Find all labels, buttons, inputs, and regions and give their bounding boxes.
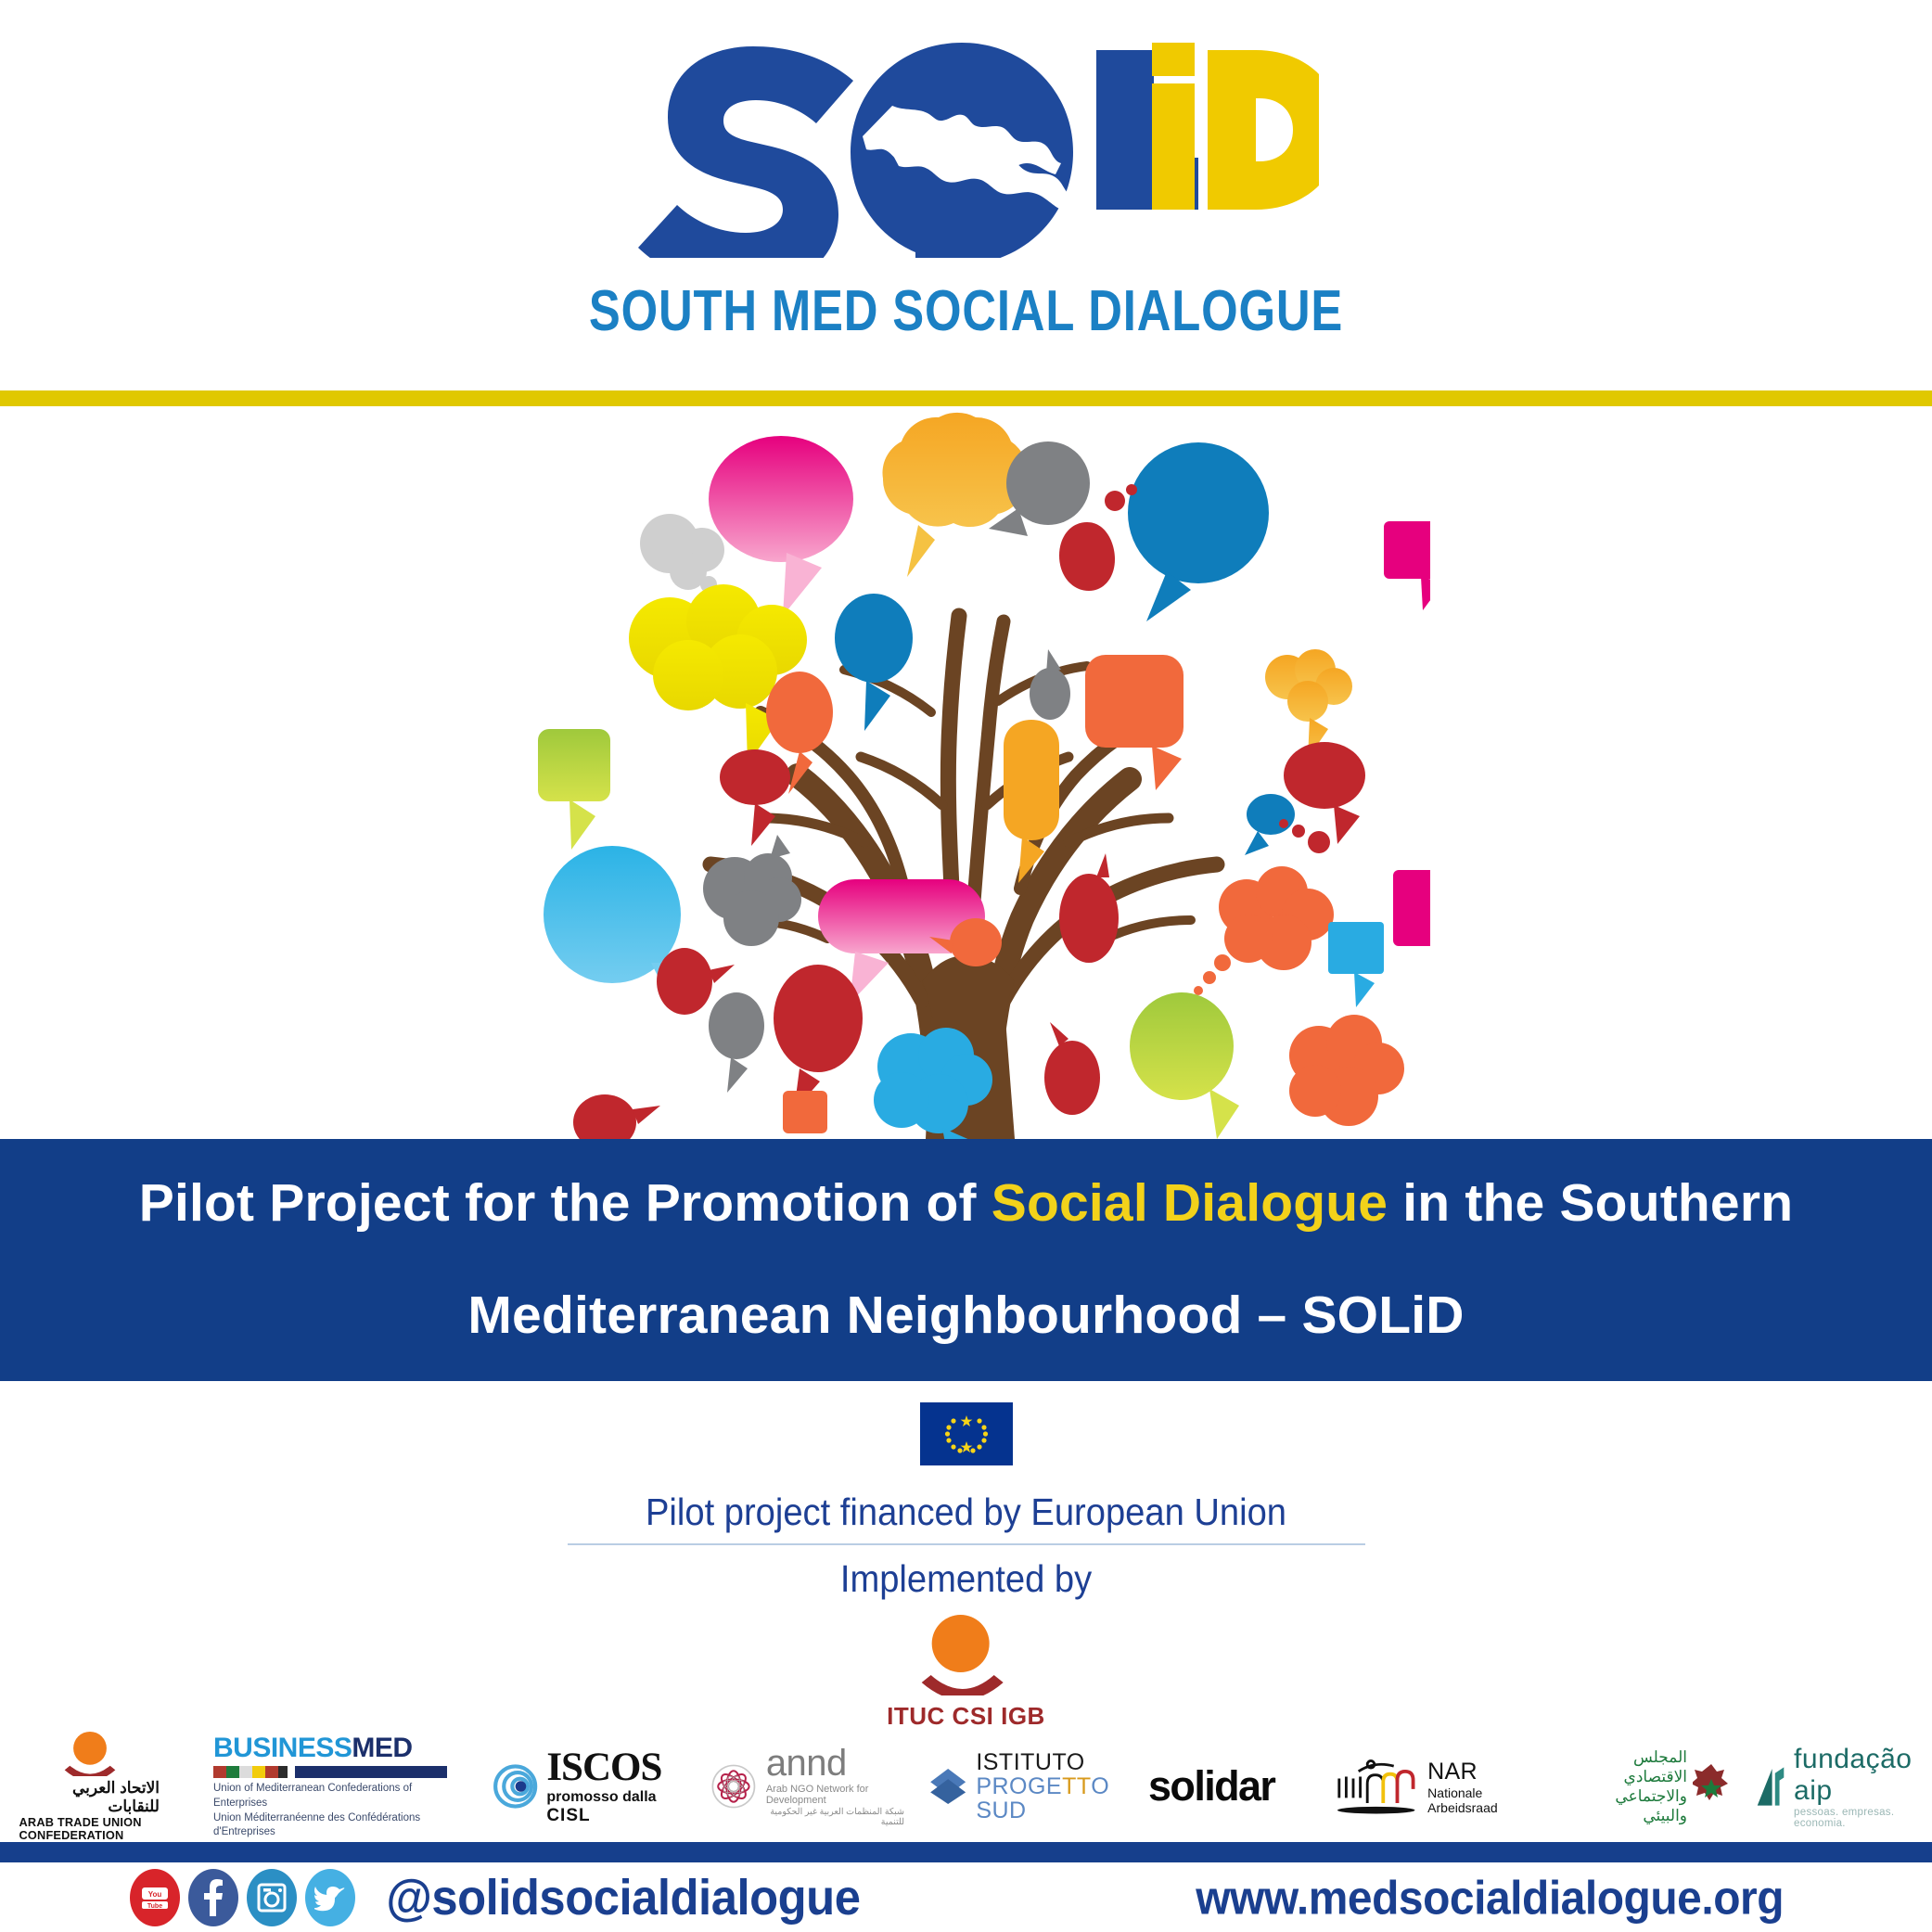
- partner-logo-annd: annd Arab NGO Network for Development شب…: [710, 1731, 904, 1842]
- facebook-icon[interactable]: [188, 1869, 238, 1926]
- nar-figures-icon: [1336, 1754, 1420, 1819]
- banner-text-pre: Pilot Project for the Promotion of: [139, 1173, 992, 1233]
- ituc-label: ITUC CSI IGB: [887, 1702, 1045, 1731]
- businessmed-subtitle-en: Union of Mediterranean Confederations of…: [213, 1782, 454, 1810]
- partner-logo-fundacao-aip: fundação aip pessoas. empresas. economia…: [1753, 1731, 1925, 1842]
- annd-subtitle-en: Arab NGO Network for Development: [766, 1784, 904, 1806]
- cese-ar-line1: المجلس: [1615, 1747, 1687, 1767]
- nar-abbr: NAR: [1427, 1759, 1549, 1785]
- solidar-wordmark: solidar: [1148, 1762, 1274, 1810]
- iscos-sub-pre: promosso dalla: [546, 1789, 656, 1805]
- istituto-line1: ISTITUTO: [976, 1750, 1127, 1774]
- atuc-mark-icon: [50, 1731, 130, 1776]
- businessmed-flag-bar: [213, 1766, 447, 1778]
- partner-logo-arab-trade-union-confederation: الاتحاد العربي للنقابات ARAB TRADE UNION…: [20, 1731, 160, 1842]
- website-url[interactable]: www.medsocialdialogue.org: [1196, 1870, 1784, 1925]
- fundacao-aip-subtitle: pessoas. empresas. economia.: [1794, 1807, 1925, 1829]
- annd-wordmark: annd: [766, 1746, 904, 1781]
- fundacao-aip-mark-icon: [1753, 1757, 1788, 1816]
- social-links: YouTube: [130, 1869, 355, 1926]
- cese-arabic-name: المجلس الاقتصادي والاجتماعي والبيئي: [1615, 1747, 1687, 1826]
- header: SOUTH MED SOCIAL DIALOGUE: [0, 0, 1932, 388]
- businessmed-wordmark: BUSINESSMED: [213, 1733, 413, 1764]
- ituc-logo: ITUC CSI IGB: [887, 1610, 1045, 1731]
- european-union-flag-icon: [920, 1402, 1013, 1465]
- morocco-crest-icon: [1693, 1760, 1730, 1812]
- istituto-line2-t: TT: [1062, 1773, 1091, 1799]
- partner-logo-nar: NAR Nationale Arbeidsraad: [1336, 1731, 1549, 1842]
- banner-line-2: Mediterranean Neighbourhood – SOLiD: [467, 1286, 1464, 1347]
- cese-ar-line3: والاجتماعي: [1615, 1786, 1687, 1806]
- iscos-mark-icon: [492, 1758, 539, 1815]
- partner-logo-istituto-progetto-sud: ISTITUTO PROGETTO SUD: [928, 1731, 1127, 1842]
- footer: YouTube @solidsocialdialogue www.medsoci…: [0, 1862, 1932, 1932]
- solid-wordmark-icon: [614, 26, 1319, 258]
- cese-ar-line2: الاقتصادي: [1615, 1767, 1687, 1786]
- cese-ar-line4: والبيئي: [1615, 1806, 1687, 1825]
- eu-stars: [920, 1402, 1013, 1465]
- partner-logo-solidar: solidar: [1148, 1731, 1287, 1842]
- banner-text-highlight: Social Dialogue: [992, 1173, 1388, 1233]
- footer-divider-bar: [0, 1842, 1932, 1862]
- implemented-by-text: Implemented by: [68, 1557, 1864, 1601]
- annd-rosette-icon: [710, 1758, 758, 1815]
- atuc-arabic-name: الاتحاد العربي للنقابات: [20, 1779, 160, 1816]
- poster-root: SOUTH MED SOCIAL DIALOGUE: [0, 0, 1932, 1932]
- atuc-english-name: ARAB TRADE UNION CONFEDERATION: [19, 1816, 161, 1842]
- fundacao-aip-wordmark: fundação aip: [1794, 1744, 1925, 1807]
- banner-line-1: Pilot Project for the Promotion of Socia…: [139, 1173, 1793, 1235]
- financed-by-text: Pilot project financed by European Union: [68, 1491, 1864, 1534]
- businessmed-word2: MED: [352, 1733, 412, 1763]
- bubble: [882, 413, 1026, 577]
- solid-logo: [0, 26, 1932, 258]
- instagram-icon[interactable]: [247, 1869, 297, 1926]
- title-banner: Pilot Project for the Promotion of Socia…: [0, 1139, 1932, 1381]
- istituto-diamond-icon: [928, 1760, 968, 1812]
- iscos-sub-cisl: CISL: [546, 1806, 590, 1825]
- twitter-icon[interactable]: [305, 1869, 355, 1926]
- funding-section: Pilot project financed by European Union…: [0, 1381, 1932, 1734]
- partner-logo-cese-maroc: المجلس الاقتصادي والاجتماعي والبيئي: [1581, 1731, 1730, 1842]
- banner-text-post: in the Southern: [1388, 1173, 1793, 1233]
- iscos-wordmark: ISCOS: [546, 1747, 677, 1787]
- logo-tagline: SOUTH MED SOCIAL DIALOGUE: [173, 278, 1758, 344]
- svg-text:Tube: Tube: [147, 1903, 162, 1910]
- ituc-mark-icon: [904, 1610, 1027, 1695]
- hero-illustration: [0, 406, 1932, 1139]
- hair-divider: [568, 1543, 1365, 1545]
- partner-logo-businessmed: BUSINESSMED Union of Mediterranean Confe…: [213, 1731, 454, 1842]
- svg-text:You: You: [148, 1890, 162, 1899]
- businessmed-word1: BUSINESS: [213, 1733, 352, 1763]
- social-handle[interactable]: @solidsocialdialogue: [386, 1869, 860, 1926]
- istituto-line2-a: PROGE: [976, 1773, 1062, 1799]
- youtube-icon[interactable]: YouTube: [130, 1869, 180, 1926]
- yellow-divider: [0, 390, 1932, 406]
- speech-bubble-tree-icon: [503, 406, 1430, 1139]
- partner-logo-iscos: ISCOS promosso dalla CISL: [492, 1731, 677, 1842]
- iscos-subtitle: promosso dalla CISL: [546, 1789, 677, 1826]
- istituto-line2: PROGETTO SUD: [976, 1774, 1127, 1823]
- partner-logos-row: الاتحاد العربي للنقابات ARAB TRADE UNION…: [0, 1731, 1932, 1842]
- nar-full-name: Nationale Arbeidsraad: [1427, 1785, 1549, 1815]
- annd-subtitle-ar: شبكة المنظمات العربية غير الحكومية للتنم…: [766, 1807, 904, 1827]
- businessmed-subtitle-fr: Union Méditerranéenne des Confédérations…: [213, 1811, 454, 1840]
